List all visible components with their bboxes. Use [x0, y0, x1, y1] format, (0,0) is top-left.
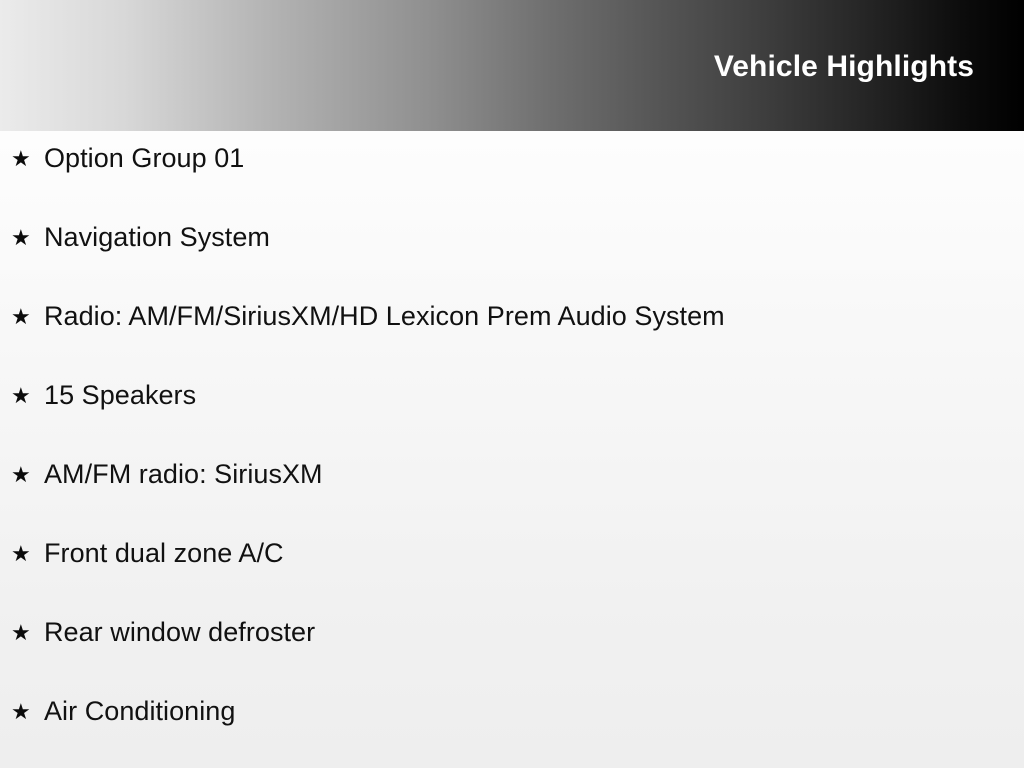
highlight-label: Navigation System	[44, 224, 270, 251]
star-icon: ★	[11, 702, 44, 724]
highlight-label: Air Conditioning	[44, 698, 235, 725]
page-title: Vehicle Highlights	[714, 52, 974, 82]
list-item: ★ 15 Speakers	[0, 382, 1024, 461]
star-icon: ★	[11, 544, 44, 566]
highlight-label: Option Group 01	[44, 145, 244, 172]
list-item: ★ Navigation System	[0, 224, 1024, 303]
highlight-label: Radio: AM/FM/SiriusXM/HD Lexicon Prem Au…	[44, 303, 725, 330]
star-icon: ★	[11, 228, 44, 250]
list-item: ★ Front dual zone A/C	[0, 540, 1024, 619]
star-icon: ★	[11, 623, 44, 645]
star-icon: ★	[11, 307, 44, 329]
star-icon: ★	[11, 386, 44, 408]
vehicle-highlights-list: ★ Option Group 01 ★ Navigation System ★ …	[0, 131, 1024, 777]
highlight-label: Rear window defroster	[44, 619, 315, 646]
star-icon: ★	[11, 149, 44, 171]
page-header-banner: Vehicle Highlights	[0, 0, 1024, 131]
star-icon: ★	[11, 465, 44, 487]
highlight-label: Front dual zone A/C	[44, 540, 284, 567]
highlight-label: 15 Speakers	[44, 382, 196, 409]
list-item: ★ AM/FM radio: SiriusXM	[0, 461, 1024, 540]
list-item: ★ Air Conditioning	[0, 698, 1024, 777]
list-item: ★ Radio: AM/FM/SiriusXM/HD Lexicon Prem …	[0, 303, 1024, 382]
list-item: ★ Option Group 01	[0, 145, 1024, 224]
vehicle-highlights-page: Vehicle Highlights ★ Option Group 01 ★ N…	[0, 0, 1024, 768]
highlight-label: AM/FM radio: SiriusXM	[44, 461, 323, 488]
list-item: ★ Rear window defroster	[0, 619, 1024, 698]
